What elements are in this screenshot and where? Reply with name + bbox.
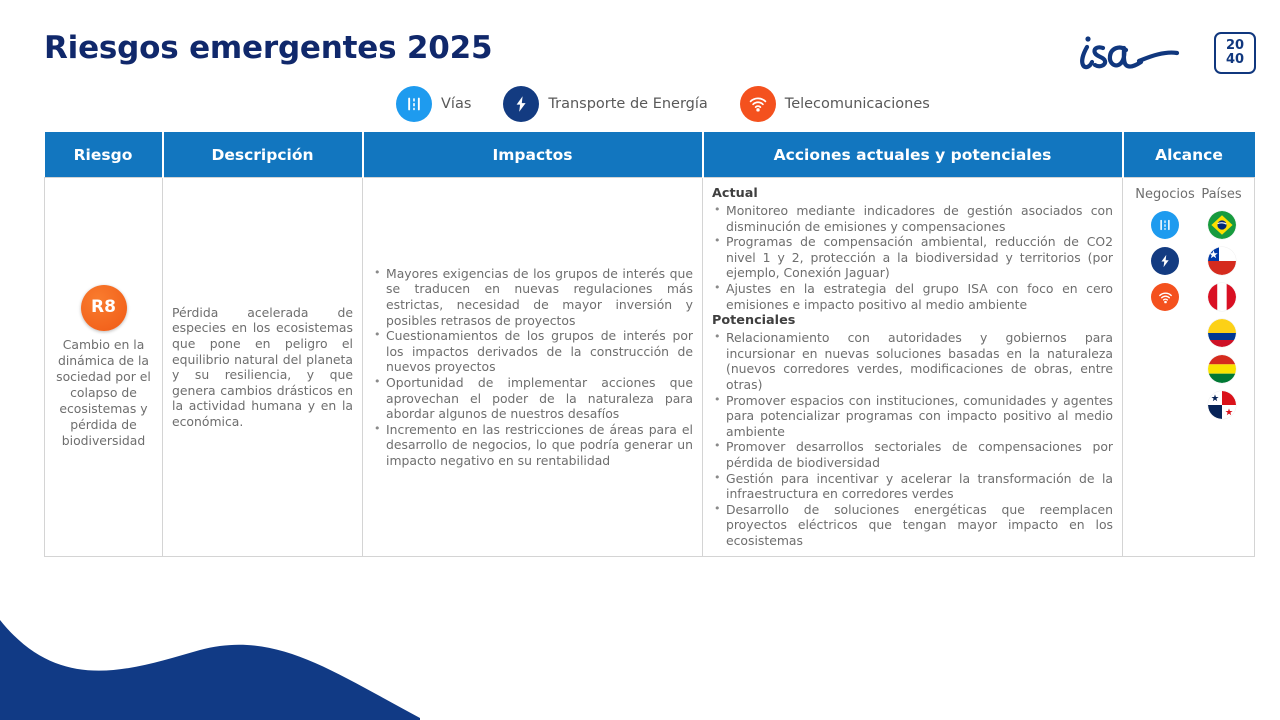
column-header-acciones: Acciones actuales y potenciales xyxy=(703,132,1123,178)
alcance-paises: Países xyxy=(1201,188,1241,427)
bolt-icon xyxy=(503,86,539,122)
cell-riesgo: R8 Cambio en la dinámica de la sociedad … xyxy=(45,178,163,557)
column-header-impactos: Impactos xyxy=(363,132,703,178)
list-item: Gestión para incentivar y acelerar la tr… xyxy=(712,471,1113,502)
risks-table: Riesgo Descripción Impactos Acciones act… xyxy=(44,132,1255,557)
list-item: Ajustes en la estrategia del grupo ISA c… xyxy=(712,281,1113,312)
flag-chile-icon xyxy=(1208,247,1236,275)
isa-logo: 20 40 xyxy=(1073,28,1256,78)
column-header-descripcion: Descripción xyxy=(163,132,363,178)
acciones-actual-label: Actual xyxy=(712,186,1113,202)
alcance-negocios: Negocios xyxy=(1135,188,1194,319)
list-item: Mayores exigencias de los grupos de inte… xyxy=(372,266,693,328)
risk-title: Cambio en la dinámica de la sociedad por… xyxy=(54,337,153,449)
table-header-row: Riesgo Descripción Impactos Acciones act… xyxy=(45,132,1255,178)
bolt-icon xyxy=(1151,247,1179,275)
isa-wordmark-icon xyxy=(1073,28,1208,78)
table-row: R8 Cambio en la dinámica de la sociedad … xyxy=(45,178,1255,557)
impactos-list: Mayores exigencias de los grupos de inte… xyxy=(372,266,693,469)
column-header-alcance: Alcance xyxy=(1123,132,1255,178)
cell-acciones: Actual Monitoreo mediante indicadores de… xyxy=(703,178,1123,557)
list-item: Oportunidad de implementar acciones que … xyxy=(372,375,693,422)
logo-badge-top: 20 xyxy=(1226,39,1244,53)
list-item: Desarrollo de soluciones energéticas que… xyxy=(712,502,1113,549)
business-legend: Vías Transporte de Energía Telecomunicac… xyxy=(396,86,962,122)
logo-badge-bottom: 40 xyxy=(1226,53,1244,67)
flag-brasil-icon xyxy=(1208,211,1236,239)
legend-label-telecom: Telecomunicaciones xyxy=(785,96,930,112)
list-item: Cuestionamientos de los grupos de interé… xyxy=(372,328,693,375)
flag-colombia-icon xyxy=(1208,319,1236,347)
list-item: Monitoreo mediante indicadores de gestió… xyxy=(712,203,1113,234)
acciones-potenciales-list: Relacionamiento con autoridades y gobier… xyxy=(712,330,1113,548)
flag-panama-icon xyxy=(1208,391,1236,419)
list-item: Promover espacios con instituciones, com… xyxy=(712,393,1113,440)
acciones-potenciales-label: Potenciales xyxy=(712,313,1113,329)
list-item: Programas de compensación ambiental, red… xyxy=(712,234,1113,281)
cell-alcance: Negocios xyxy=(1123,178,1255,557)
road-icon xyxy=(1151,211,1179,239)
alcance-paises-label: Países xyxy=(1201,188,1241,202)
legend-label-vias: Vías xyxy=(441,96,471,112)
risk-badge: R8 xyxy=(81,285,127,331)
cell-descripcion: Pérdida acelerada de especies en los eco… xyxy=(163,178,363,557)
list-item: Relacionamiento con autoridades y gobier… xyxy=(712,330,1113,392)
logo-2040-badge: 20 40 xyxy=(1214,32,1256,74)
column-header-riesgo: Riesgo xyxy=(45,132,163,178)
page-title: Riesgos emergentes 2025 xyxy=(44,30,492,66)
legend-item-telecom: Telecomunicaciones xyxy=(740,86,962,122)
list-item: Promover desarrollos sectoriales de comp… xyxy=(712,439,1113,470)
cell-impactos: Mayores exigencias de los grupos de inte… xyxy=(363,178,703,557)
legend-item-energia: Transporte de Energía xyxy=(503,86,739,122)
wifi-icon xyxy=(1151,283,1179,311)
legend-label-energia: Transporte de Energía xyxy=(548,96,707,112)
road-icon xyxy=(396,86,432,122)
alcance-negocios-label: Negocios xyxy=(1135,188,1194,202)
decorative-wave xyxy=(0,600,420,720)
legend-item-vias: Vías xyxy=(396,86,503,122)
wifi-icon xyxy=(740,86,776,122)
flag-bolivia-icon xyxy=(1208,355,1236,383)
list-item: Incremento en las restricciones de áreas… xyxy=(372,422,693,469)
acciones-actual-list: Monitoreo mediante indicadores de gestió… xyxy=(712,203,1113,312)
flag-peru-icon xyxy=(1208,283,1236,311)
